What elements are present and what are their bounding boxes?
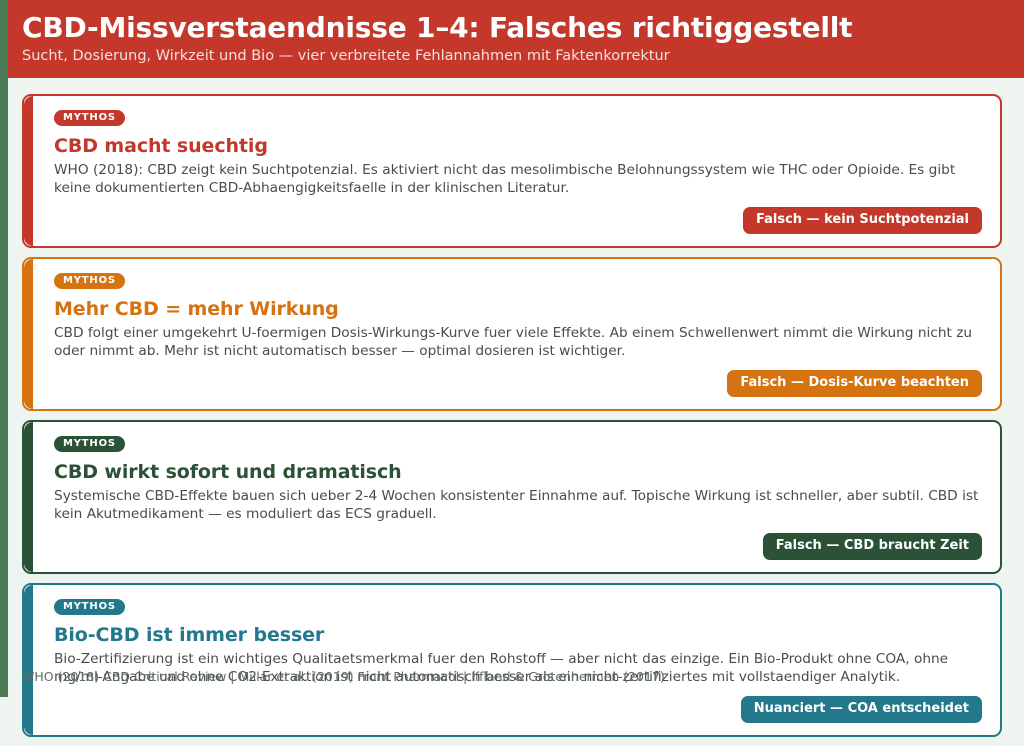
verdict-row: Nuanciert — COA entscheidet (54, 696, 982, 723)
myth-card: MYTHOS Bio-CBD ist immer besser Bio-Zert… (22, 583, 1002, 737)
status-badge: MYTHOS (54, 273, 125, 289)
myth-card: MYTHOS CBD wirkt sofort und dramatisch S… (22, 420, 1002, 574)
verdict-row: Falsch — Dosis-Kurve beachten (54, 370, 982, 397)
card-title: Mehr CBD = mehr Wirkung (54, 297, 982, 321)
left-accent-rail (0, 0, 8, 697)
status-badge: MYTHOS (54, 436, 125, 452)
card-title: Bio-CBD ist immer besser (54, 623, 982, 647)
card-accent-bar (24, 422, 33, 572)
verdict-badge: Nuanciert — COA entscheidet (741, 696, 982, 723)
page-header: CBD-Missverstaendnisse 1–4: Falsches ric… (0, 0, 1024, 78)
status-badge: MYTHOS (54, 599, 125, 615)
card-title: CBD wirkt sofort und dramatisch (54, 460, 982, 484)
verdict-row: Falsch — kein Suchtpotenzial (54, 207, 982, 234)
card-accent-bar (24, 585, 33, 735)
myth-card: MYTHOS Mehr CBD = mehr Wirkung CBD folgt… (22, 257, 1002, 411)
card-accent-bar (24, 96, 33, 246)
verdict-badge: Falsch — CBD braucht Zeit (763, 533, 982, 560)
myth-card-list: MYTHOS CBD macht suechtig WHO (2018): CB… (22, 94, 1002, 746)
verdict-badge: Falsch — Dosis-Kurve beachten (727, 370, 982, 397)
myth-card: MYTHOS CBD macht suechtig WHO (2018): CB… (22, 94, 1002, 248)
page-title: CBD-Missverstaendnisse 1–4: Falsches ric… (22, 11, 1024, 45)
source-citations: WHO (2018) CBD Critical Review | Millar … (22, 668, 1002, 685)
card-title: CBD macht suechtig (54, 134, 982, 158)
card-accent-bar (24, 259, 33, 409)
card-body-text: CBD folgt einer umgekehrt U-foermigen Do… (54, 324, 982, 360)
status-badge: MYTHOS (54, 110, 125, 126)
card-body-text: Systemische CBD-Effekte bauen sich ueber… (54, 487, 982, 523)
verdict-badge: Falsch — kein Suchtpotenzial (743, 207, 982, 234)
card-body-text: WHO (2018): CBD zeigt kein Suchtpotenzia… (54, 161, 982, 197)
verdict-row: Falsch — CBD braucht Zeit (54, 533, 982, 560)
page-footer: WHO (2018) CBD Critical Review | Millar … (22, 668, 1002, 685)
page-subtitle: Sucht, Dosierung, Wirkzeit und Bio — vie… (22, 46, 1024, 66)
